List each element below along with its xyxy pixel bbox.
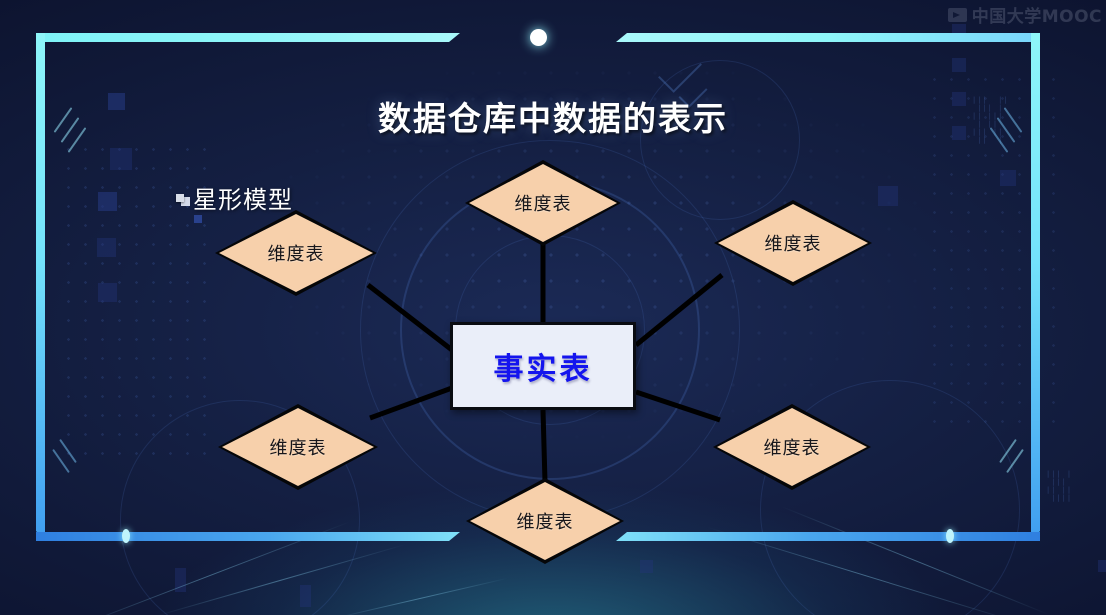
dimension-label-bottom-right: 维度表 bbox=[764, 434, 821, 460]
link-top-left bbox=[368, 285, 452, 350]
dimension-label-bottom-left: 维度表 bbox=[270, 434, 327, 460]
slide-canvas: ||| || ||| | || ||| | || ||| || || | |||… bbox=[0, 0, 1106, 615]
link-bottom-right bbox=[636, 392, 720, 420]
watermark: 中国大学MOOC bbox=[948, 2, 1102, 27]
fact-table-box[interactable]: 事实表 bbox=[450, 322, 636, 410]
video-play-icon bbox=[948, 8, 967, 22]
link-bottom-left bbox=[370, 388, 452, 418]
watermark-text: 中国大学MOOC bbox=[972, 2, 1102, 27]
fact-table-label: 事实表 bbox=[494, 344, 593, 388]
star-schema-diagram: 维度表 维度表 维度表 维度表 维度表 bbox=[0, 0, 1106, 615]
dimension-label-top: 维度表 bbox=[515, 190, 572, 216]
dimension-label-top-left: 维度表 bbox=[268, 240, 325, 266]
link-bottom bbox=[543, 410, 545, 482]
link-top-right bbox=[636, 275, 722, 345]
dimension-label-top-right: 维度表 bbox=[765, 230, 822, 256]
dimension-label-bottom: 维度表 bbox=[517, 508, 574, 534]
